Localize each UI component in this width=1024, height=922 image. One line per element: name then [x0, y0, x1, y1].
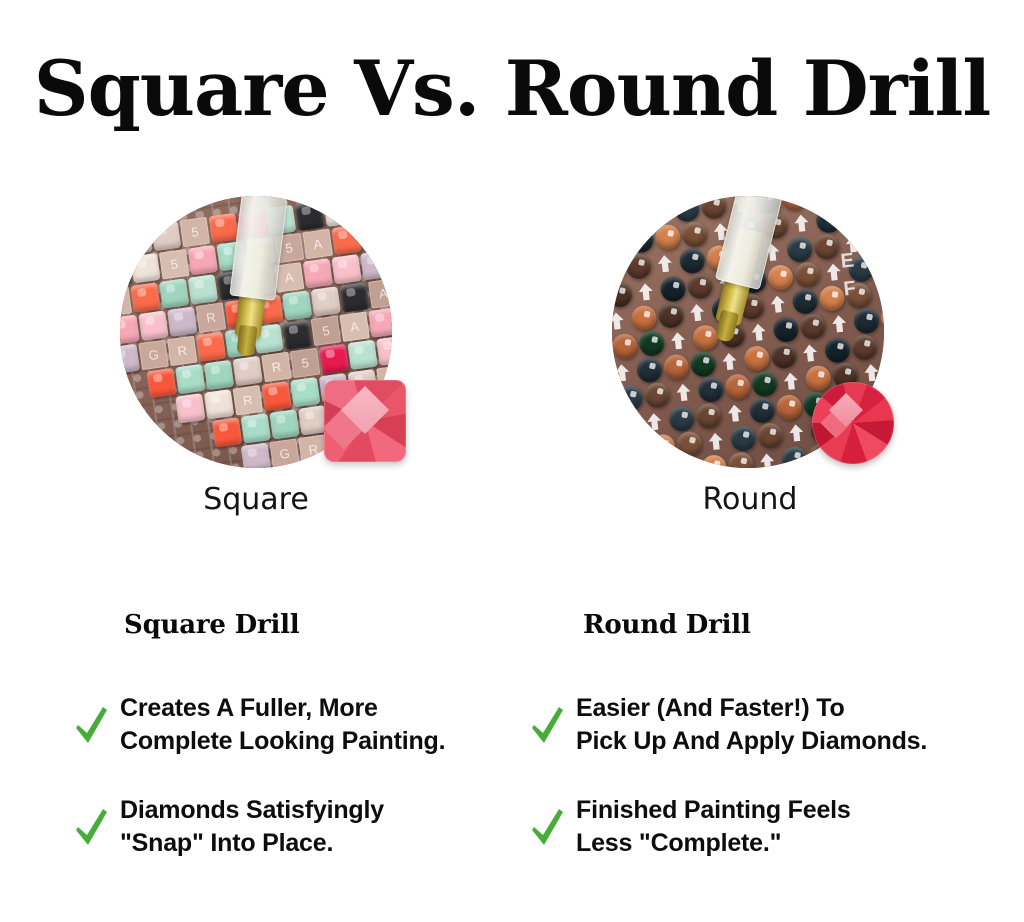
- square-drill: [188, 245, 218, 275]
- canvas-arrow-icon: [840, 196, 856, 201]
- round-drill: [815, 207, 842, 234]
- square-drill-panel: 5G55AGR5AARRAGR5AR5AR5R5GR5RRGRR: [56, 196, 476, 526]
- round-drill: [622, 436, 649, 463]
- square-drill: [241, 413, 271, 443]
- check-icon: [530, 706, 564, 748]
- canvas-cell: 5: [159, 249, 189, 279]
- canvas-arrow-icon: [652, 464, 668, 468]
- square-drill: [208, 213, 238, 243]
- canvas-arrow-icon: [638, 283, 654, 301]
- round-gem-closeup: [812, 382, 894, 464]
- square-drill: [319, 344, 349, 374]
- round-drill: [692, 324, 719, 351]
- canvas-arrow-icon: [676, 383, 692, 401]
- canvas-arrow-icon: [794, 214, 810, 232]
- round-drill: [612, 281, 633, 308]
- square-drill: [204, 360, 234, 390]
- round-drill: [673, 196, 700, 223]
- round-drill: [612, 465, 620, 468]
- round-drill: [724, 373, 751, 400]
- canvas-arrow-icon: [670, 331, 686, 349]
- check-icon: [74, 808, 108, 850]
- round-drill: [630, 304, 657, 331]
- round-drill: [813, 233, 840, 260]
- canvas-arrow-icon: [826, 263, 842, 281]
- round-drill: [794, 261, 821, 288]
- canvas-arrow-icon: [877, 284, 884, 302]
- round-drill: [627, 226, 654, 253]
- round-drill: [869, 462, 884, 468]
- canvas-cell: R: [196, 302, 226, 332]
- round-drill-photo: EF: [612, 196, 888, 472]
- round-drill-panel: EF: [548, 196, 968, 526]
- round-drill: [770, 342, 797, 369]
- canvas-arrow-icon: [883, 335, 884, 353]
- square-drill-photo: 5G55AGR5AARRAGR5AR5AR5R5GR5RRGRR: [120, 196, 396, 472]
- canvas-cell: G: [269, 438, 299, 468]
- canvas-symbol: E: [840, 249, 856, 273]
- round-drill: [729, 425, 756, 452]
- square-drill: [175, 393, 205, 423]
- round-drill: [767, 264, 794, 291]
- round-drill: [614, 411, 641, 438]
- round-drill: [695, 402, 722, 429]
- square-drill: [196, 332, 226, 362]
- square-drill: [282, 320, 312, 350]
- canvas-arrow-icon: [612, 234, 621, 252]
- canvas-cell: R: [167, 336, 197, 366]
- round-drill: [853, 307, 880, 334]
- square-drill: [159, 278, 189, 308]
- round-drill: [659, 275, 686, 302]
- round-drill: [700, 196, 727, 220]
- round-drill: [775, 394, 802, 421]
- square-drill: [368, 307, 392, 337]
- canvas-arrow-icon: [770, 295, 786, 313]
- round-drill: [818, 285, 845, 312]
- round-drill: [781, 196, 808, 211]
- bullet-text: Finished Painting Feels Less "Complete.": [576, 794, 851, 860]
- canvas-cell: R: [261, 352, 291, 382]
- round-drill: [874, 253, 884, 280]
- round-drill: [620, 462, 647, 468]
- canvas-arrow-icon: [783, 372, 799, 390]
- canvas-arrow-icon: [727, 404, 743, 422]
- square-drill: [295, 201, 325, 231]
- square-drill: [360, 221, 390, 251]
- square-drill: [303, 258, 333, 288]
- round-drill: [697, 376, 724, 403]
- bullet-text: Diamonds Satisfyingly "Snap" Into Place.: [120, 794, 384, 860]
- canvas-arrow-icon: [657, 254, 673, 272]
- bullet-text: Creates A Fuller, More Complete Looking …: [120, 692, 445, 758]
- bullet-round-2: Finished Painting Feels Less "Complete.": [530, 794, 851, 860]
- canvas-arrow-icon: [612, 443, 616, 461]
- round-drill: [643, 381, 670, 408]
- square-drill: [130, 282, 160, 312]
- canvas-symbol: F: [842, 277, 857, 301]
- round-drill: [781, 445, 808, 468]
- round-drill: [749, 397, 776, 424]
- bullet-text: Easier (And Faster!) To Pick Up And Appl…: [576, 692, 927, 758]
- bullet-square-1: Creates A Fuller, More Complete Looking …: [74, 692, 445, 758]
- round-drill: [805, 364, 832, 391]
- square-drill: [347, 340, 377, 370]
- round-drill: [807, 196, 834, 209]
- round-drill: [668, 405, 695, 432]
- heading-square-drill: Square Drill: [124, 609, 299, 641]
- canvas-arrow-icon: [647, 412, 663, 430]
- square-drill: [120, 314, 140, 344]
- square-drill: [130, 253, 160, 283]
- canvas-arrow-icon: [612, 312, 625, 330]
- canvas-cell: R: [233, 385, 263, 415]
- round-drill: [851, 334, 878, 361]
- canvas-cell: A: [303, 229, 333, 259]
- caption-round: Round: [540, 482, 960, 518]
- round-drill: [663, 353, 690, 380]
- round-drill: [842, 204, 869, 231]
- round-drill: [679, 247, 706, 274]
- square-drill: [241, 442, 271, 468]
- square-drill: [146, 368, 176, 398]
- round-drill: [869, 201, 884, 228]
- round-drill: [654, 223, 681, 250]
- round-drill: [673, 457, 700, 468]
- square-drill: [151, 221, 181, 251]
- round-drill: [756, 422, 783, 449]
- square-drill: [175, 364, 205, 394]
- square-drill: [167, 306, 197, 336]
- round-drill: [612, 204, 620, 231]
- canvas-arrow-icon: [652, 203, 668, 221]
- canvas-arrow-icon: [788, 424, 804, 442]
- canvas-arrow-icon: [759, 453, 775, 468]
- heading-round-drill: Round Drill: [583, 609, 751, 641]
- square-drill: [261, 381, 291, 411]
- round-drill: [681, 221, 708, 248]
- round-drill: [786, 236, 813, 263]
- square-drill: [120, 344, 140, 374]
- round-drill: [743, 345, 770, 372]
- canvas-cell: 5: [290, 348, 320, 378]
- square-drill: [233, 356, 263, 386]
- round-drill: [676, 430, 703, 457]
- round-drill: [700, 454, 727, 468]
- round-drill: [612, 333, 639, 360]
- square-drill: [138, 310, 168, 340]
- square-drill: [188, 274, 218, 304]
- round-drill: [686, 272, 713, 299]
- bullet-square-2: Diamonds Satisfyingly "Snap" Into Place.: [74, 794, 384, 860]
- square-drill: [311, 286, 341, 316]
- canvas-cell: G: [138, 340, 168, 370]
- round-drill: [689, 350, 716, 377]
- square-drill: [290, 377, 320, 407]
- square-drill: [360, 250, 390, 280]
- square-drill: [204, 389, 234, 419]
- square-drill: [323, 197, 353, 227]
- square-drill: [339, 282, 369, 312]
- canvas-arrow-icon: [722, 352, 738, 370]
- square-drill: [381, 196, 392, 219]
- canvas-cell: A: [339, 311, 369, 341]
- square-drill: [269, 409, 299, 439]
- square-drill: [331, 254, 361, 284]
- page-title: Square Vs. Round Drill: [0, 46, 1024, 132]
- round-drill: [867, 227, 884, 254]
- round-drill: [636, 356, 663, 383]
- canvas-arrow-icon: [614, 364, 630, 382]
- round-drill: [617, 384, 644, 411]
- square-drill: [282, 290, 312, 320]
- round-drill: [727, 451, 754, 468]
- round-drill: [625, 253, 652, 280]
- square-drill: [331, 225, 361, 255]
- round-drill: [612, 413, 615, 440]
- round-drill: [657, 302, 684, 329]
- round-drill: [880, 304, 884, 331]
- square-drill: [122, 225, 152, 255]
- canvas-cell: 5: [180, 217, 210, 247]
- bullet-round-1: Easier (And Faster!) To Pick Up And Appl…: [530, 692, 927, 758]
- check-icon: [74, 706, 108, 748]
- round-drill: [638, 330, 665, 357]
- square-drill: [376, 336, 392, 366]
- canvas-arrow-icon: [864, 363, 880, 381]
- caption-square: Square: [46, 482, 466, 518]
- round-drill: [842, 465, 869, 468]
- round-drill: [612, 255, 625, 282]
- canvas-cell: A: [368, 278, 392, 308]
- round-drill: [791, 287, 818, 314]
- round-drill: [619, 201, 646, 228]
- canvas-arrow-icon: [751, 323, 767, 341]
- canvas-arrow-icon: [802, 344, 818, 362]
- check-icon: [530, 808, 564, 850]
- round-drill: [772, 316, 799, 343]
- canvas-arrow-icon: [708, 432, 724, 450]
- round-drill: [799, 313, 826, 340]
- canvas-cell: G: [352, 196, 382, 223]
- round-drill: [751, 370, 778, 397]
- round-drill: [649, 433, 676, 460]
- round-drill: [824, 336, 851, 363]
- canvas-cell: 5: [311, 315, 341, 345]
- square-drill: [212, 417, 242, 447]
- canvas-arrow-icon: [831, 315, 847, 333]
- square-gem-closeup: [324, 380, 406, 462]
- canvas-arrow-icon: [689, 303, 705, 321]
